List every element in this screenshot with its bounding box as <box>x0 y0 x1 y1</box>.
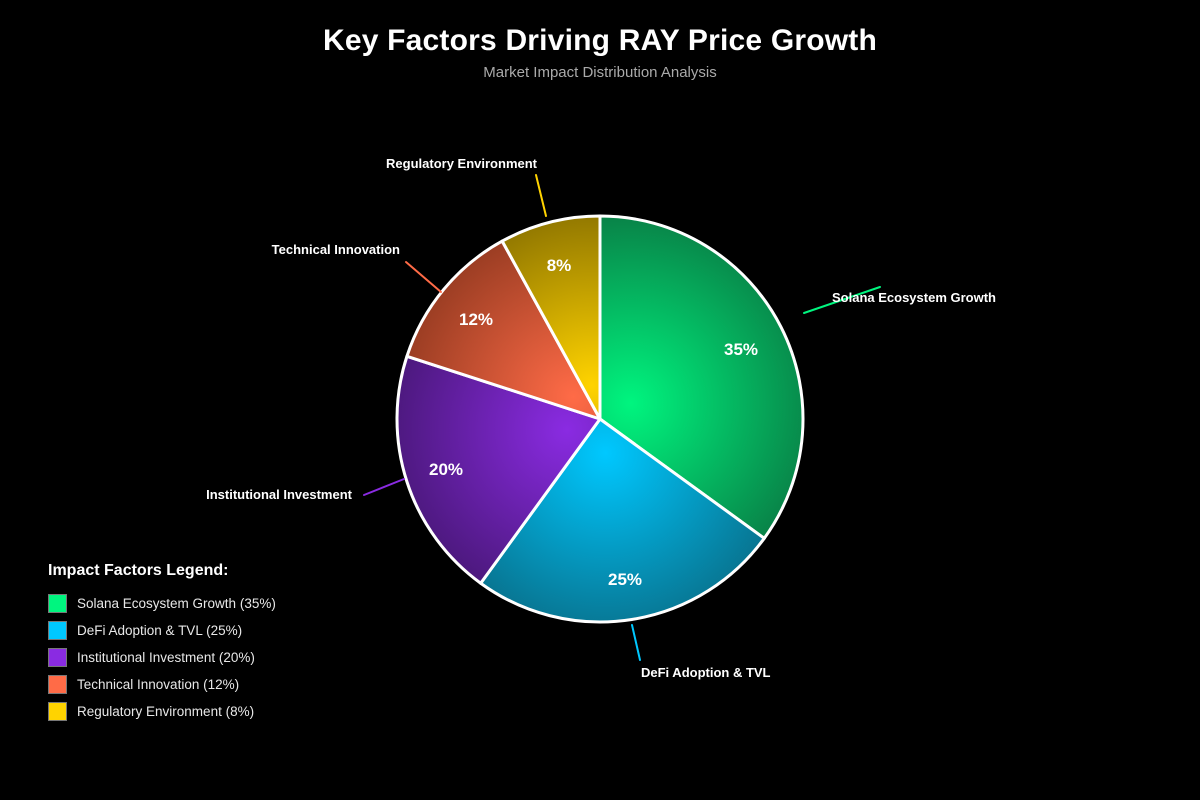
leader-line <box>632 625 640 660</box>
slice-callout-label: Institutional Investment <box>206 487 353 502</box>
slice-callout-label: Technical Innovation <box>272 242 400 257</box>
legend-swatch-icon <box>48 702 67 721</box>
legend-item-label: DeFi Adoption & TVL (25%) <box>77 623 242 638</box>
legend-swatch-icon <box>48 594 67 613</box>
legend-item[interactable]: Institutional Investment (20%) <box>48 648 276 667</box>
slice-percent-label: 20% <box>429 460 463 479</box>
slice-callout-label: Solana Ecosystem Growth <box>832 290 996 305</box>
legend-title: Impact Factors Legend: <box>48 562 276 580</box>
slice-callout-label: DeFi Adoption & TVL <box>641 665 771 680</box>
leader-line <box>536 175 546 216</box>
chart-canvas: Key Factors Driving RAY Price Growth Mar… <box>0 0 1200 800</box>
legend-item-label: Technical Innovation (12%) <box>77 677 239 692</box>
legend-item[interactable]: Solana Ecosystem Growth (35%) <box>48 594 276 613</box>
legend-item-label: Institutional Investment (20%) <box>77 650 255 665</box>
slice-percent-label: 35% <box>724 340 758 359</box>
legend-swatch-icon <box>48 648 67 667</box>
legend-swatch-icon <box>48 675 67 694</box>
legend-item-label: Solana Ecosystem Growth (35%) <box>77 596 276 611</box>
slice-percent-label: 8% <box>547 256 572 275</box>
legend-item[interactable]: Technical Innovation (12%) <box>48 675 276 694</box>
slice-callout-label: Regulatory Environment <box>386 156 538 171</box>
pie-slice-group <box>397 216 803 622</box>
legend: Impact Factors Legend: Solana Ecosystem … <box>48 562 276 729</box>
slice-percent-label: 25% <box>608 570 642 589</box>
leader-line <box>406 262 441 292</box>
slice-percent-label: 12% <box>459 310 493 329</box>
legend-swatch-icon <box>48 621 67 640</box>
leader-line <box>364 479 404 495</box>
legend-item[interactable]: Regulatory Environment (8%) <box>48 702 276 721</box>
legend-item-label: Regulatory Environment (8%) <box>77 704 254 719</box>
legend-item[interactable]: DeFi Adoption & TVL (25%) <box>48 621 276 640</box>
